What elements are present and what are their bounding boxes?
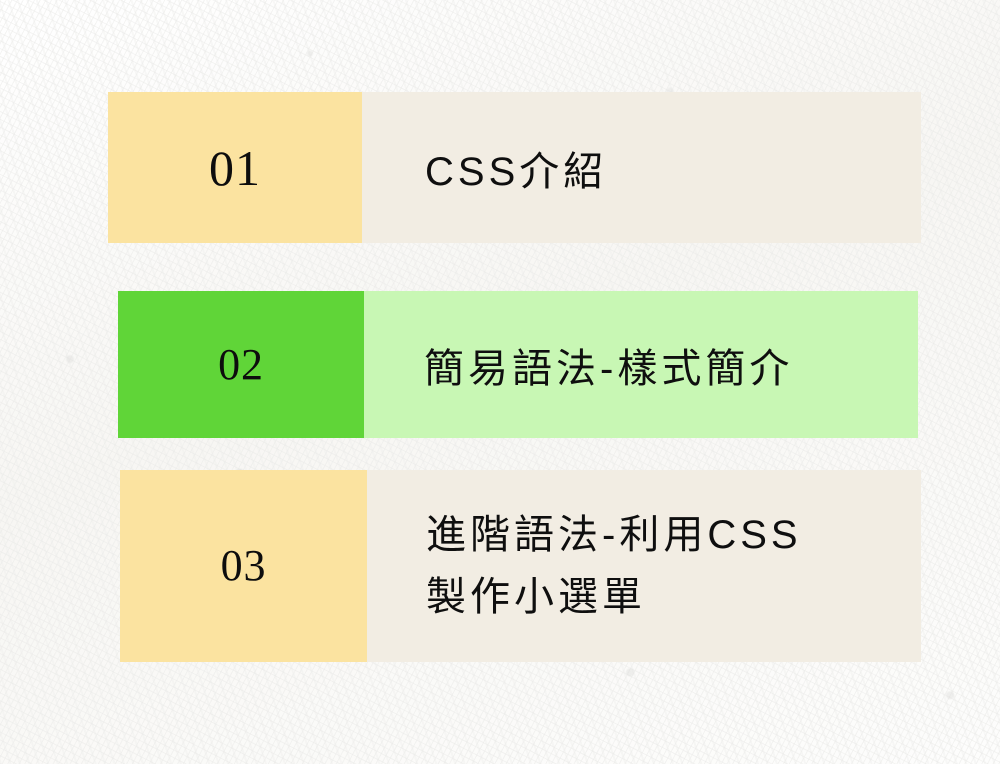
agenda-number-02: 02 [218, 343, 264, 387]
agenda-title-03-line-2: 製作小選單 [426, 566, 921, 628]
agenda-text-panel-02: 簡易語法-樣式簡介 [364, 291, 918, 438]
agenda-item-03[interactable]: 03 進階語法-利用CSS 製作小選單 [120, 470, 921, 662]
agenda-text-panel-01: CSS介紹 [362, 92, 921, 243]
agenda-title-01-line-1: CSS介紹 [425, 139, 921, 197]
agenda-slide: 01 CSS介紹 02 簡易語法-樣式簡介 03 進階語法-利用CSS 製作小選… [0, 0, 1000, 764]
agenda-number-01: 01 [209, 143, 261, 193]
agenda-title-03-line-1: 進階語法-利用CSS [426, 504, 921, 566]
agenda-number-block-03: 03 [120, 470, 367, 662]
agenda-number-03: 03 [221, 544, 267, 588]
agenda-title-02-line-1: 簡易語法-樣式簡介 [424, 336, 918, 394]
agenda-number-block-02: 02 [118, 291, 364, 438]
agenda-item-01[interactable]: 01 CSS介紹 [108, 92, 921, 243]
agenda-text-panel-03: 進階語法-利用CSS 製作小選單 [367, 470, 921, 662]
agenda-number-block-01: 01 [108, 92, 362, 243]
agenda-item-02[interactable]: 02 簡易語法-樣式簡介 [118, 291, 918, 438]
